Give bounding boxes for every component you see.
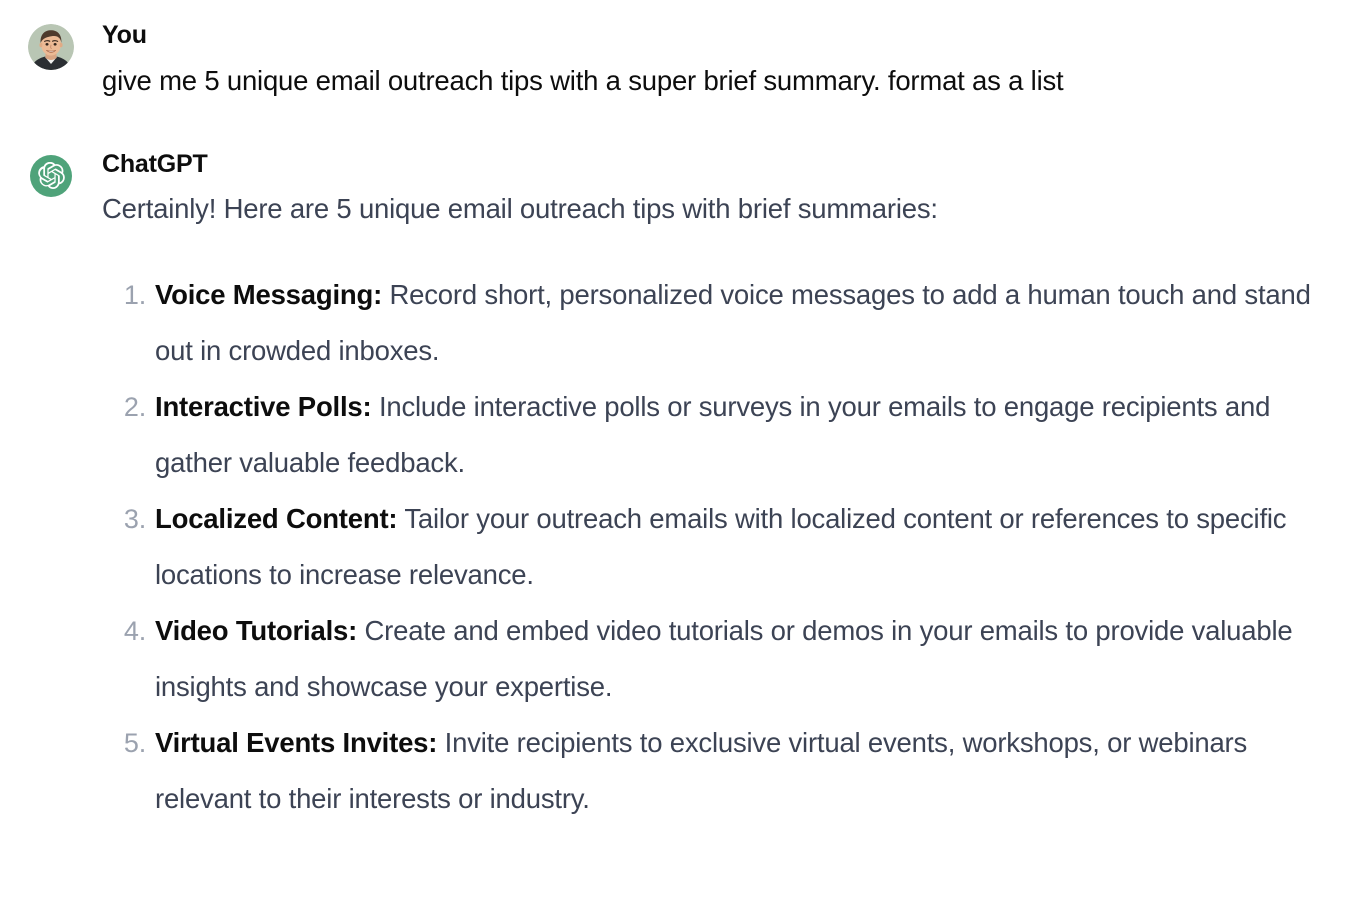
list-item: Voice Messaging: Record short, personali… bbox=[102, 267, 1348, 379]
list-item: Interactive Polls: Include interactive p… bbox=[102, 379, 1348, 491]
list-item: Video Tutorials: Create and embed video … bbox=[102, 603, 1348, 715]
assistant-intro-text: Certainly! Here are 5 unique email outre… bbox=[102, 190, 1348, 227]
list-item: Localized Content: Tailor your outreach … bbox=[102, 491, 1348, 603]
tip-label: Localized Content: bbox=[155, 503, 397, 534]
assistant-avatar-column bbox=[28, 151, 80, 197]
user-avatar-column bbox=[28, 22, 80, 70]
assistant-message-body: ChatGPT Certainly! Here are 5 unique ema… bbox=[80, 151, 1348, 828]
user-author-name: You bbox=[102, 22, 1348, 50]
list-item: Virtual Events Invites: Invite recipient… bbox=[102, 715, 1348, 827]
assistant-author-name: ChatGPT bbox=[102, 151, 1348, 179]
openai-logo-icon bbox=[30, 155, 72, 197]
tip-label: Virtual Events Invites: bbox=[155, 727, 437, 758]
user-message-body: You give me 5 unique email outreach tips… bbox=[80, 22, 1348, 99]
tips-list: Voice Messaging: Record short, personali… bbox=[102, 267, 1348, 827]
user-message-text: give me 5 unique email outreach tips wit… bbox=[102, 62, 1348, 99]
tip-label: Voice Messaging: bbox=[155, 279, 382, 310]
assistant-message: ChatGPT Certainly! Here are 5 unique ema… bbox=[0, 99, 1372, 828]
user-avatar-photo bbox=[28, 24, 74, 70]
conversation-thread: You give me 5 unique email outreach tips… bbox=[0, 0, 1372, 827]
tip-label: Video Tutorials: bbox=[155, 615, 357, 646]
tip-label: Interactive Polls: bbox=[155, 391, 371, 422]
user-message: You give me 5 unique email outreach tips… bbox=[0, 0, 1372, 99]
